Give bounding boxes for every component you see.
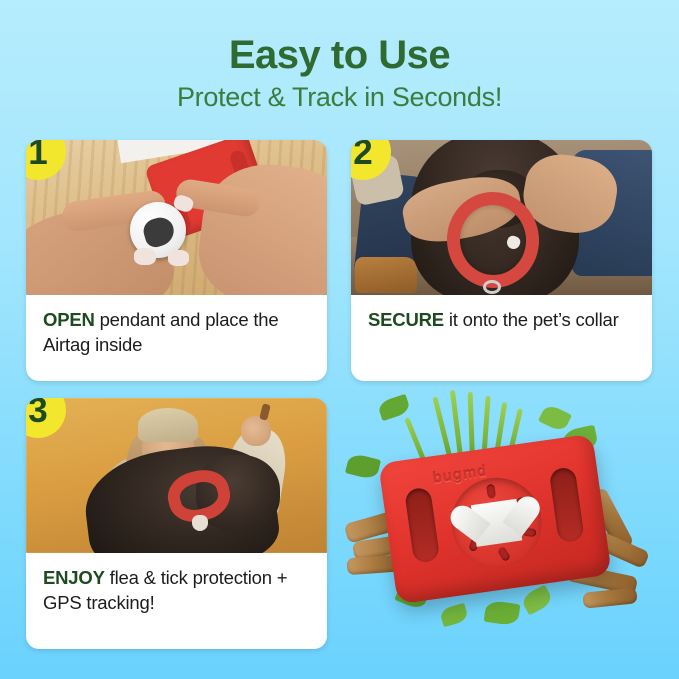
step-1-keyword: OPEN	[43, 309, 95, 330]
product-hero: bugmd	[345, 390, 661, 670]
cinnamon-stick	[582, 587, 637, 609]
pendant-slot-left	[404, 487, 440, 564]
page-title: Easy to Use	[0, 34, 679, 76]
step-2-keyword: SECURE	[368, 309, 444, 330]
step-2-caption-rest: it onto the pet’s collar	[444, 309, 619, 330]
product-pendant: bugmd	[378, 434, 612, 605]
step-card-3: 3 ENJOY flea & tick protection + GPS tra…	[26, 398, 327, 649]
mint-leaf	[345, 452, 381, 480]
collar-pendant	[192, 515, 208, 531]
step-2-photo: 2	[351, 140, 652, 295]
vent-slot	[497, 546, 511, 562]
pendant-slot-right	[549, 466, 585, 543]
step-3-caption: ENJOY flea & tick protection + GPS track…	[26, 553, 327, 625]
heart-cutout	[471, 499, 522, 547]
herb-leaf	[520, 585, 554, 616]
step-card-1: 1 OPEN pendant and place the Airtag insi…	[26, 140, 327, 381]
step-3-photo: 3	[26, 398, 327, 553]
herb-leaf	[439, 603, 469, 627]
girl-hand	[241, 416, 271, 446]
herb-leaf	[484, 600, 521, 627]
fingernail	[134, 248, 156, 265]
collar-ring	[483, 280, 501, 294]
pendant-dial	[446, 472, 548, 574]
vent-slot	[486, 484, 496, 499]
step-1-photo: 1	[26, 140, 327, 295]
step-2-caption: SECURE it onto the pet’s collar	[351, 295, 652, 343]
step-3-keyword: ENJOY	[43, 567, 105, 588]
boot	[355, 257, 417, 293]
parsley-leaf	[538, 403, 572, 433]
page-subtitle: Protect & Track in Seconds!	[0, 82, 679, 113]
step-1-caption: OPEN pendant and place the Airtag inside	[26, 295, 327, 367]
fingernail	[168, 250, 189, 266]
header: Easy to Use Protect & Track in Seconds!	[0, 0, 679, 113]
step-card-2: 2 SECURE it onto the pet’s collar	[351, 140, 652, 381]
girl-beanie	[138, 408, 198, 442]
